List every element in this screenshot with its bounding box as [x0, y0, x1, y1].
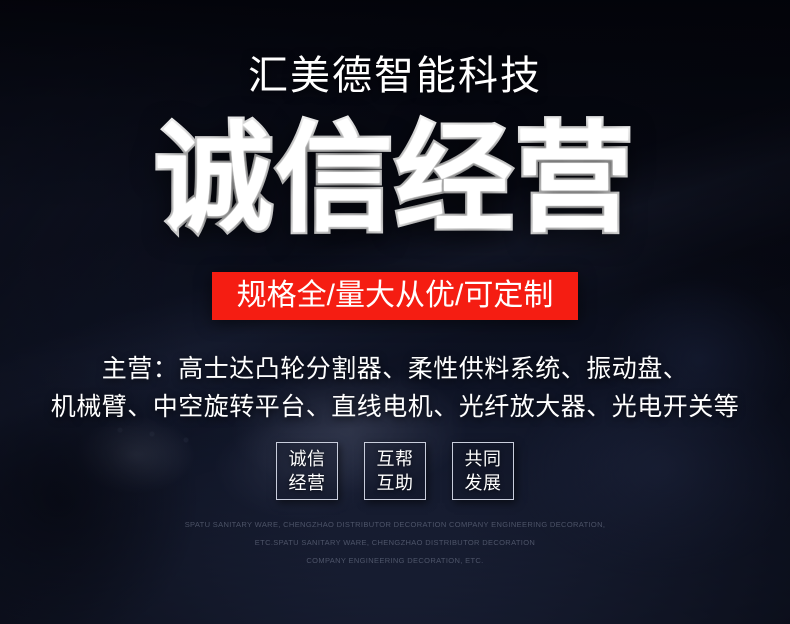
value-pill-common-development-line-2: 发展: [465, 471, 502, 495]
value-pill-common-development-line-1: 共同: [465, 447, 502, 471]
value-pill-integrity: 诚信 经营: [276, 442, 338, 500]
banner-content: 汇美德智能科技 诚信经营 规格全/量大从优/可定制 主营：高士达凸轮分割器、柔性…: [0, 0, 790, 624]
headline-slogan: 诚信经营: [0, 120, 790, 238]
value-pill-group: 诚信 经营 互帮 互助 共同 发展: [0, 442, 790, 500]
fineprint-block: SPATU SANITARY WARE, CHENGZHAO DISTRIBUT…: [0, 516, 790, 570]
promo-banner: 汇美德智能科技 诚信经营 规格全/量大从优/可定制 主营：高士达凸轮分割器、柔性…: [0, 0, 790, 624]
value-pill-mutual-help: 互帮 互助: [364, 442, 426, 500]
red-banner-text: 规格全/量大从优/可定制: [212, 272, 578, 320]
business-scope: 主营：高士达凸轮分割器、柔性供料系统、振动盘、 机械臂、中空旋转平台、直线电机、…: [0, 350, 790, 426]
fineprint-line-3: COMPANY ENGINEERING DECORATION, ETC.: [0, 552, 790, 570]
fineprint-line-2: ETC.SPATU SANITARY WARE, CHENGZHAO DISTR…: [0, 534, 790, 552]
value-pill-mutual-help-line-2: 互助: [377, 471, 414, 495]
value-pill-common-development: 共同 发展: [452, 442, 514, 500]
value-pill-integrity-line-2: 经营: [289, 471, 326, 495]
value-pill-integrity-line-1: 诚信: [289, 447, 326, 471]
company-name: 汇美德智能科技: [0, 52, 790, 100]
red-feature-banner: 规格全/量大从优/可定制: [212, 272, 578, 320]
fineprint-line-1: SPATU SANITARY WARE, CHENGZHAO DISTRIBUT…: [0, 516, 790, 534]
value-pill-mutual-help-line-1: 互帮: [377, 447, 414, 471]
business-scope-line-2: 机械臂、中空旋转平台、直线电机、光纤放大器、光电开关等: [0, 388, 790, 426]
business-scope-line-1: 主营：高士达凸轮分割器、柔性供料系统、振动盘、: [0, 350, 790, 388]
